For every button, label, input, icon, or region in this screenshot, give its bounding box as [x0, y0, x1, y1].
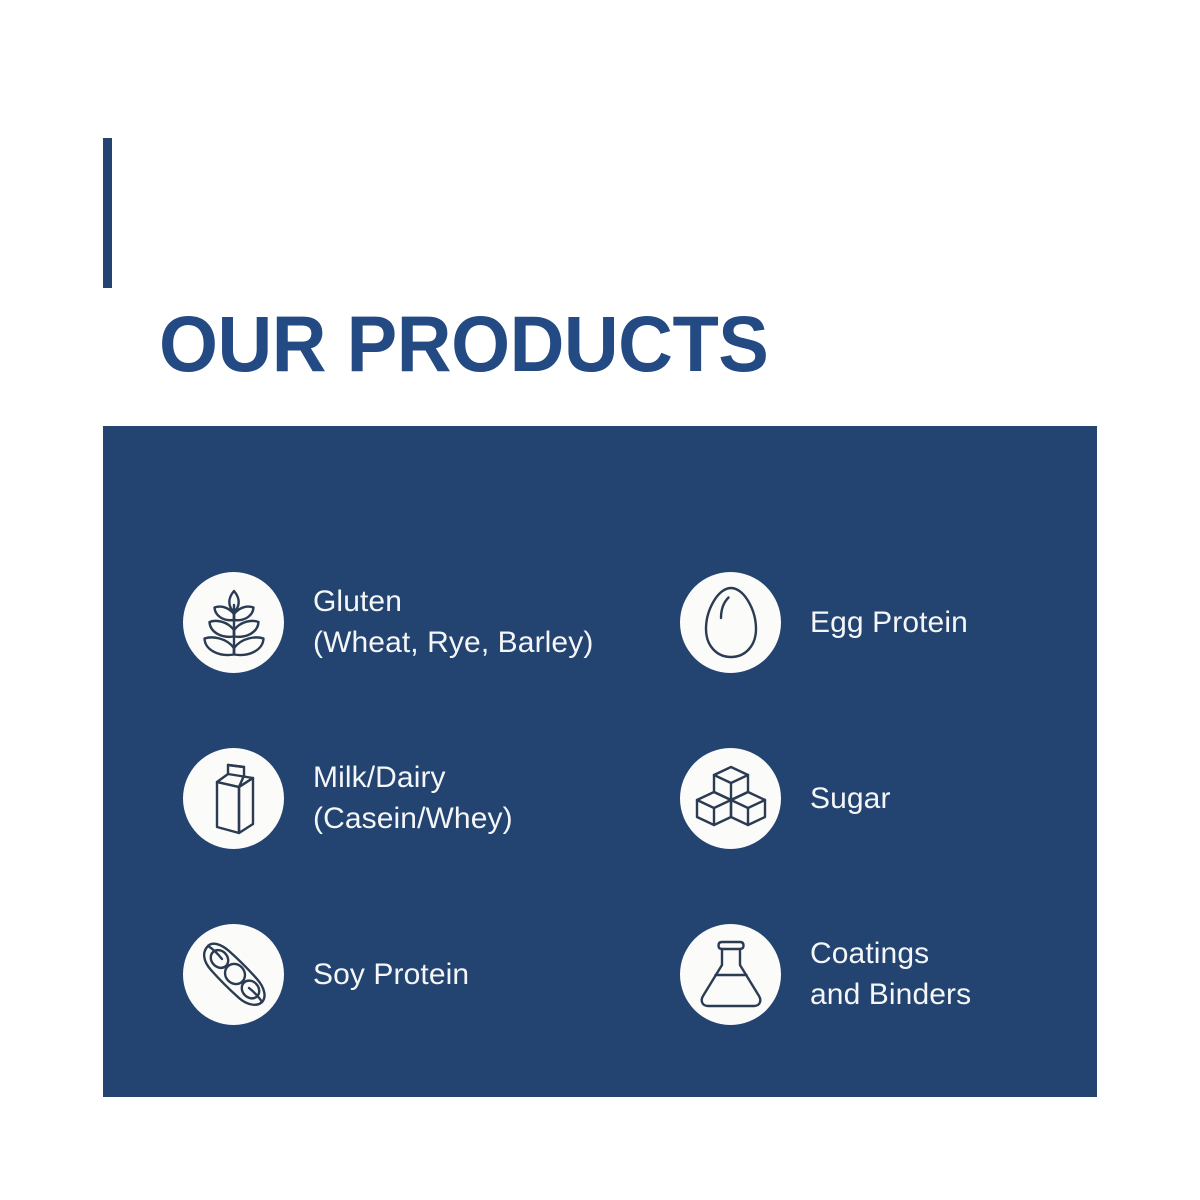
- list-item-label: Coatings and Binders: [810, 933, 971, 1015]
- list-item-label: Sugar: [810, 778, 891, 819]
- title-accent-bar: [103, 138, 112, 288]
- flask-icon: [680, 924, 781, 1025]
- list-item-egg-protein: Egg Protein: [680, 534, 1063, 710]
- free-of-grid: Gluten (Wheat, Rye, Barley) Egg Protein: [183, 534, 1063, 1062]
- page-root: OUR PRODUCTS ARE FREE OF...: [0, 0, 1200, 1200]
- list-item-label: Soy Protein: [313, 954, 469, 995]
- soybean-pod-icon: [183, 924, 284, 1025]
- milk-carton-icon: [183, 748, 284, 849]
- wheat-icon: [183, 572, 284, 673]
- list-item-soy-protein: Soy Protein: [183, 886, 680, 1062]
- list-item-coatings-and-binders: Coatings and Binders: [680, 886, 1063, 1062]
- free-of-row: Soy Protein Coatings and Binders: [183, 886, 1063, 1062]
- page-title-line-1: OUR PRODUCTS: [159, 302, 768, 385]
- list-item-label: Milk/Dairy (Casein/Whey): [313, 757, 513, 839]
- sugar-cubes-icon: [680, 748, 781, 849]
- list-item-gluten: Gluten (Wheat, Rye, Barley): [183, 534, 680, 710]
- free-of-panel: Gluten (Wheat, Rye, Barley) Egg Protein: [103, 426, 1097, 1097]
- list-item-sugar: Sugar: [680, 710, 1063, 886]
- egg-icon: [680, 572, 781, 673]
- list-item-milk-dairy: Milk/Dairy (Casein/Whey): [183, 710, 680, 886]
- list-item-label: Gluten (Wheat, Rye, Barley): [313, 581, 593, 663]
- list-item-label: Egg Protein: [810, 602, 968, 643]
- free-of-row: Gluten (Wheat, Rye, Barley) Egg Protein: [183, 534, 1063, 710]
- free-of-row: Milk/Dairy (Casein/Whey): [183, 710, 1063, 886]
